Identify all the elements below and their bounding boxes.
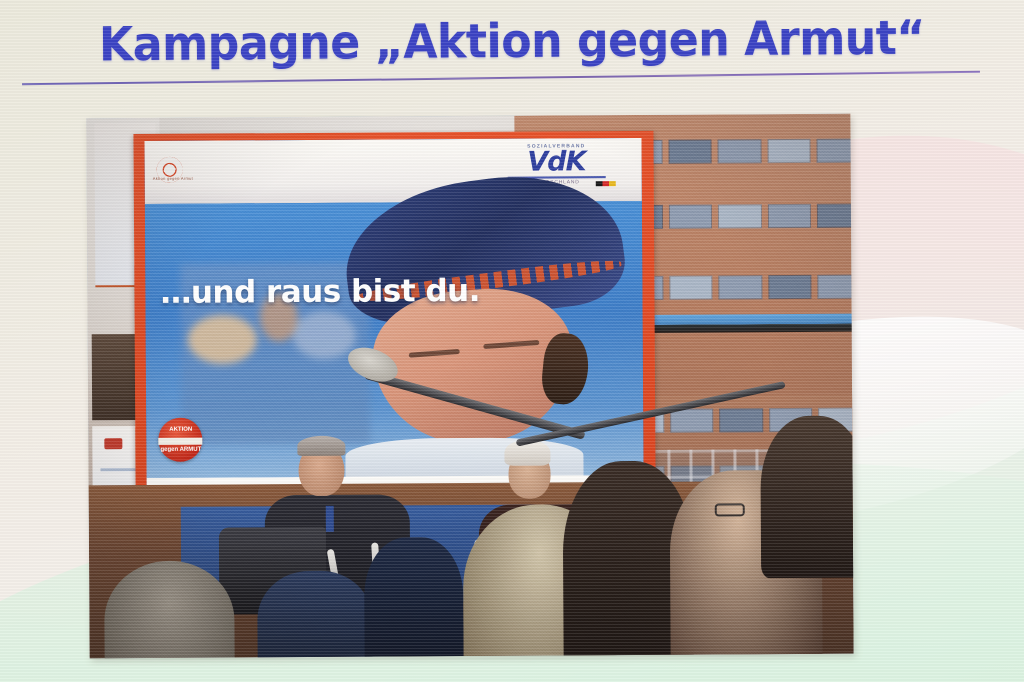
slide-title-block: Kampagne „Aktion gegen Armut“ [0, 14, 1024, 69]
campaign-photograph: Aktion gegen Armut SOZIALVERBAND VdK DEU… [86, 114, 853, 659]
page-title: Kampagne „Aktion gegen Armut“ [31, 10, 994, 73]
photo-vignette [86, 114, 853, 659]
presentation-slide: Kampagne „Aktion gegen Armut“ [0, 0, 1024, 682]
title-underline-rule [22, 71, 980, 86]
